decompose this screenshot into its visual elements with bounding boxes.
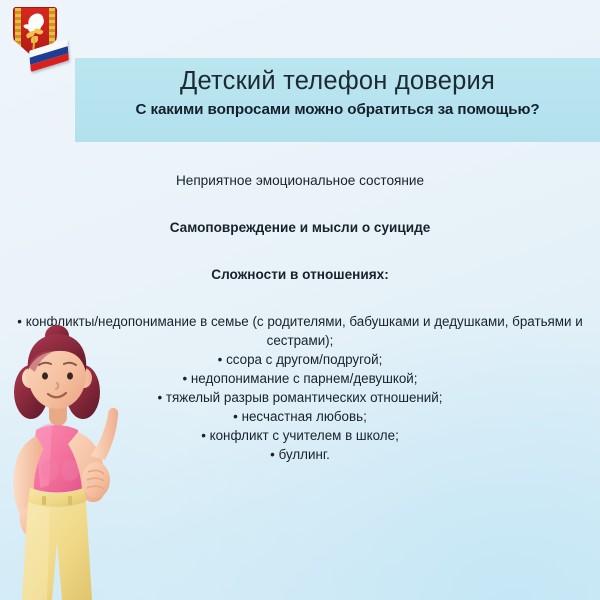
- page-title: Детский телефон доверия: [75, 58, 600, 95]
- page-subtitle: С какими вопросами можно обратиться за п…: [75, 95, 600, 118]
- shield-gold-band-left: [15, 8, 21, 52]
- section-heading-emotional-state: Неприятное эмоциональное состояние: [0, 160, 600, 190]
- flower-stem: [32, 37, 35, 49]
- poster-canvas: Детский телефон доверия С какими вопроса…: [0, 0, 600, 600]
- coat-of-arms-icon: [13, 7, 65, 75]
- girl-pointing-up-illustration: [6, 320, 156, 600]
- section-heading-selfharm-suicide: Самоповреждение и мысли о суициде: [0, 190, 600, 237]
- section-heading-relationships: Сложности в отношениях:: [0, 237, 600, 284]
- header-band: Детский телефон доверия С какими вопроса…: [75, 58, 600, 142]
